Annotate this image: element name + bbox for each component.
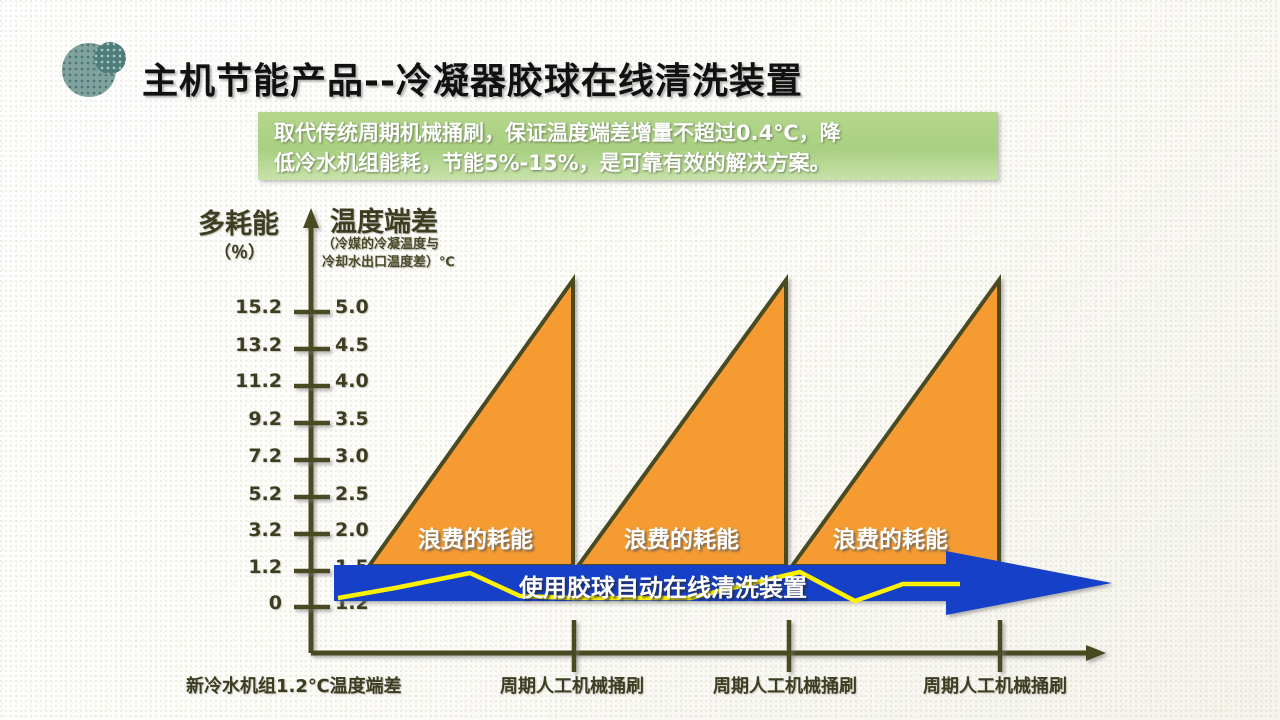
x-label-1: 周期人工机械捅刷 bbox=[500, 672, 644, 698]
chart-graphics bbox=[0, 0, 1280, 720]
x-label-2: 周期人工机械捅刷 bbox=[713, 672, 857, 698]
waste-label-1: 浪费的耗能 bbox=[418, 520, 533, 554]
waste-label-2: 浪费的耗能 bbox=[624, 520, 739, 554]
y-axis-line bbox=[303, 208, 319, 653]
x-label-0: 新冷水机组1.2℃温度端差 bbox=[186, 672, 402, 698]
slide-canvas: 主机节能产品--冷凝器胶球在线清洗装置 取代传统周期机械捅刷，保证温度端差增量不… bbox=[0, 0, 1280, 720]
waste-label-3: 浪费的耗能 bbox=[833, 520, 948, 554]
cleaning-device-label: 使用胶球自动在线清洗装置 bbox=[519, 568, 807, 603]
energy-saving-chart: 多耗能 （％） 温度端差 （冷媒的冷凝温度与 冷却水出口温度差）℃ 15.2 1… bbox=[0, 0, 1280, 720]
x-axis-ticks bbox=[574, 620, 1000, 672]
x-axis-line bbox=[311, 645, 1106, 661]
x-label-3: 周期人工机械捅刷 bbox=[923, 672, 1067, 698]
